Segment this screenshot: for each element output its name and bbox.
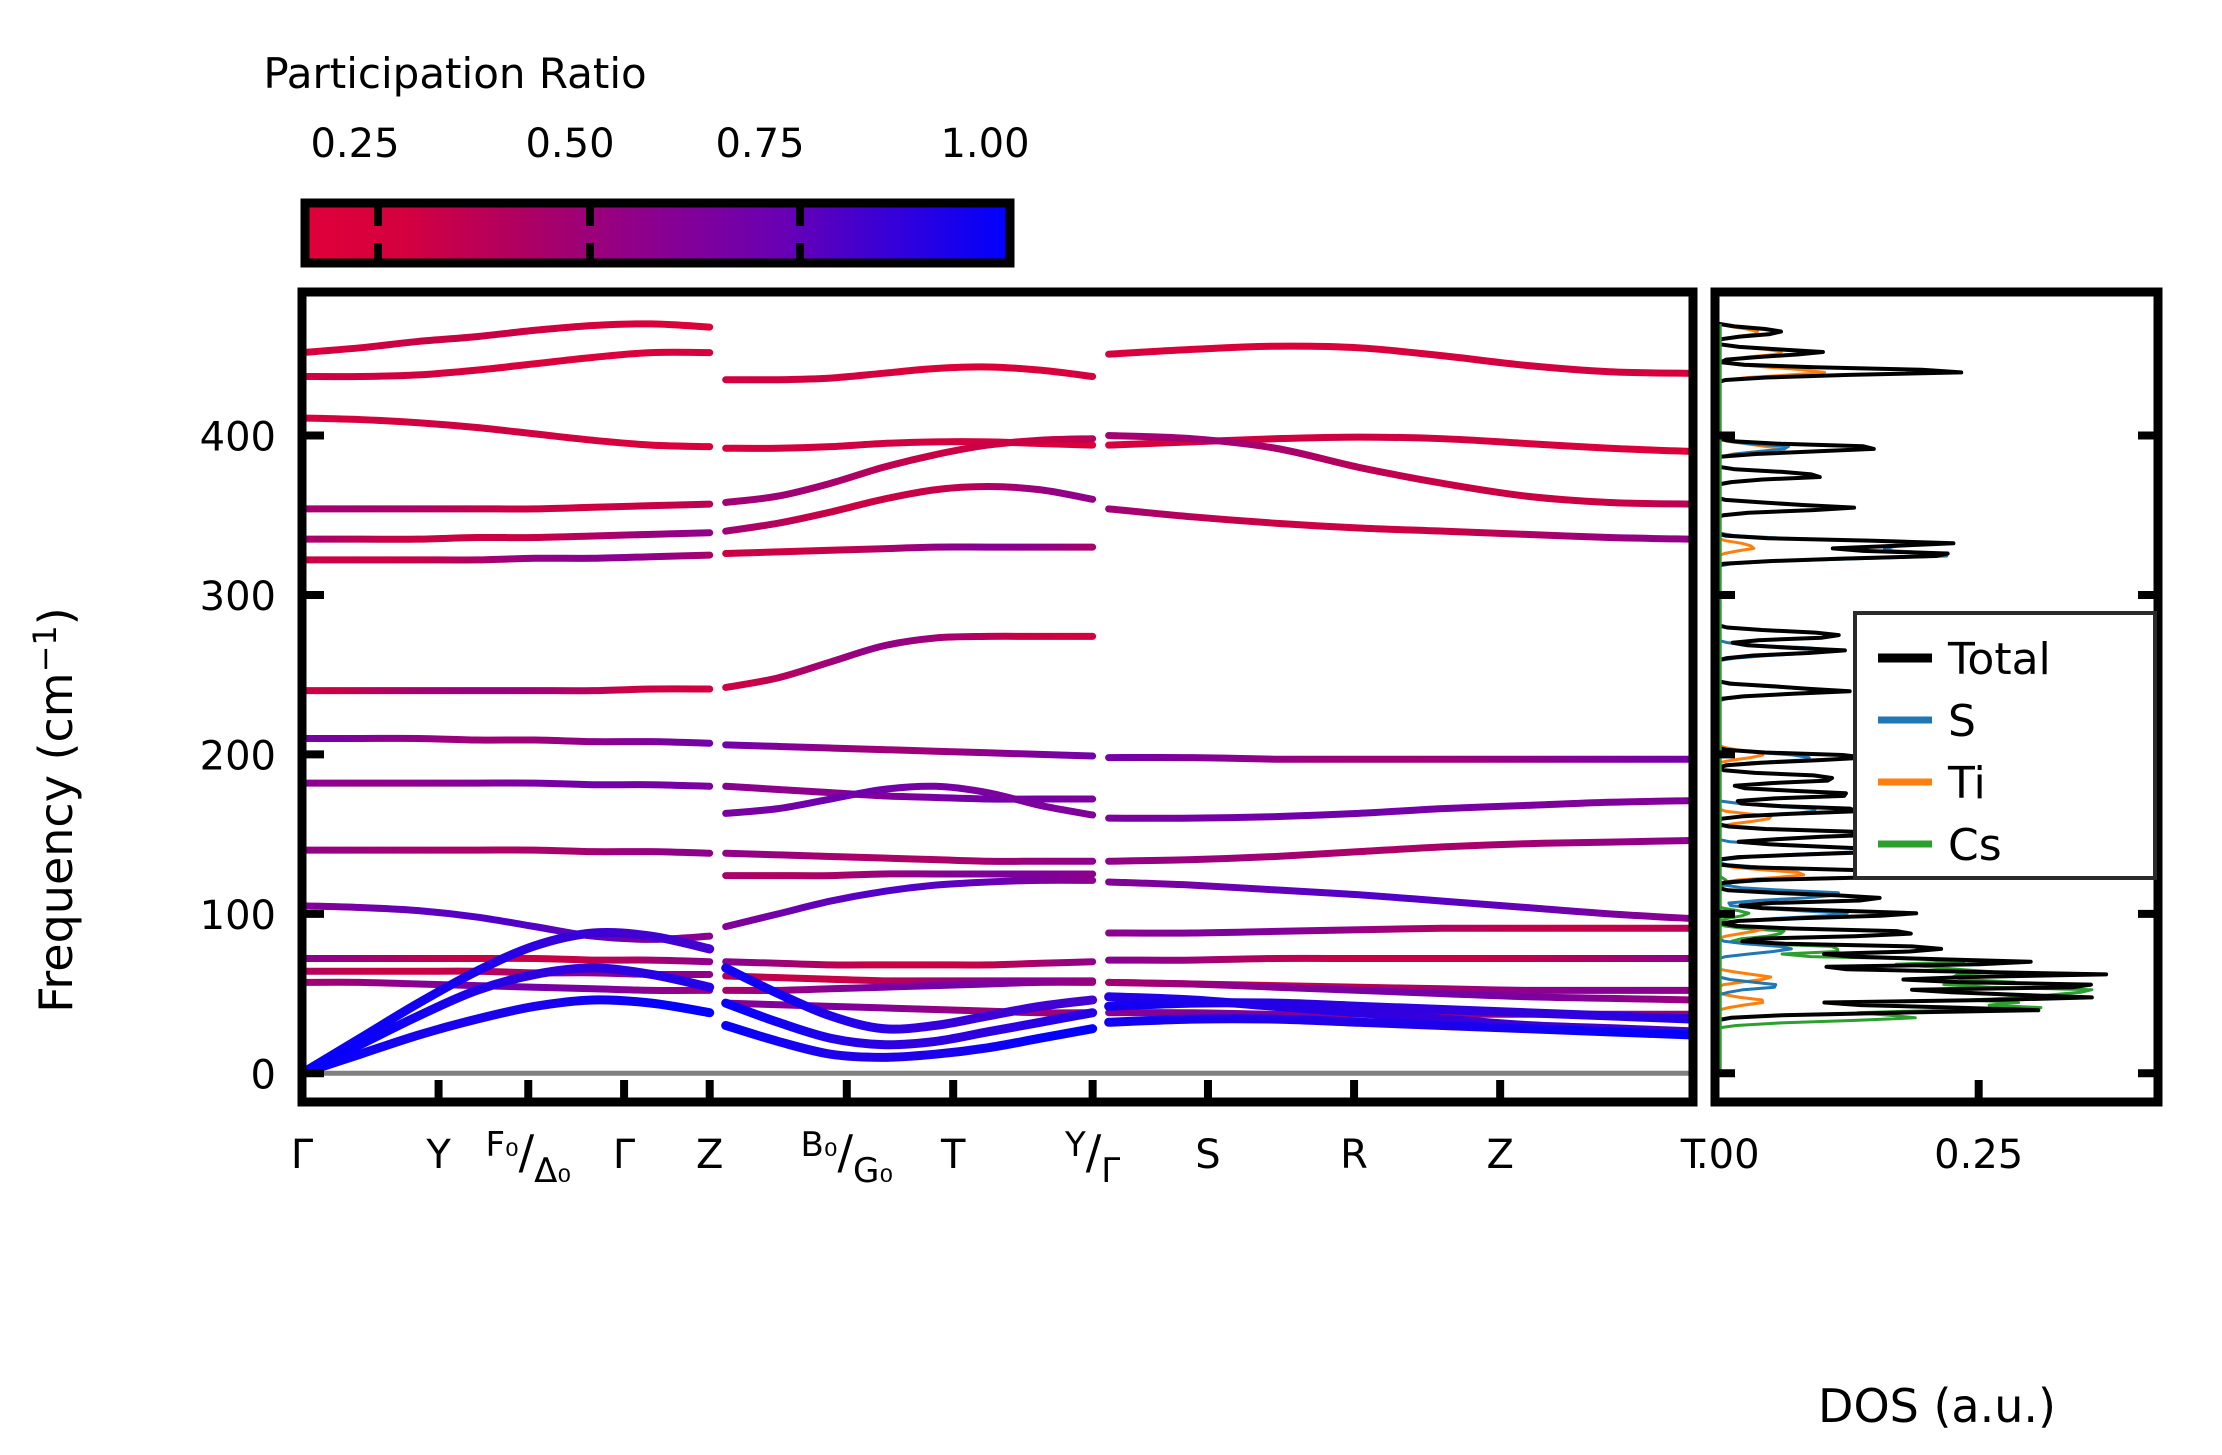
svg-text:F₀/Δ₀: F₀/Δ₀	[485, 1125, 571, 1191]
band-structure-svg[interactable]: Frequency (cm−1) 0100200300400 ΓYF₀/Δ₀ΓZ…	[0, 240, 1740, 1455]
svg-text:Z: Z	[1486, 1132, 1513, 1178]
svg-text:Γ: Γ	[291, 1132, 314, 1178]
svg-text:Z: Z	[696, 1132, 723, 1178]
dos-panel: 0.000.25 TotalSTiCs DOS (a.u.)	[1700, 240, 2222, 1455]
band-xtick-label-2: F₀/Δ₀	[485, 1125, 571, 1191]
dos-xtick-label-group: 0.000.25	[1700, 1132, 2023, 1178]
svg-text:B₀/G₀: B₀/G₀	[801, 1125, 893, 1191]
dos-xtick-label-1: 0.25	[1934, 1132, 2023, 1178]
legend-label-s[interactable]: S	[1948, 696, 1976, 747]
colorbar-tick-label-0: 0.25	[310, 121, 399, 167]
svg-text:Γ: Γ	[613, 1132, 636, 1178]
band-xtick-label-3: Γ	[613, 1132, 636, 1178]
band-xtick-label-7: Y/Γ	[1064, 1125, 1120, 1191]
band-ylabel-text: Frequency (cm	[29, 672, 83, 1012]
band-ytick-label-2: 200	[200, 733, 276, 779]
colorbar-tick-label-2: 0.75	[715, 121, 804, 167]
legend-label-total[interactable]: Total	[1947, 634, 2051, 685]
band-xtick-label-6: T	[940, 1132, 966, 1178]
band-xtick-label-1: Y	[425, 1132, 451, 1178]
band-xtick-label-10: Z	[1486, 1132, 1513, 1178]
colorbar-tick-label-3: 1.00	[940, 121, 1029, 167]
band-ytick-label-1: 100	[200, 893, 276, 939]
svg-text:Y: Y	[425, 1132, 451, 1178]
band-ytick-label-0: 0	[251, 1052, 276, 1098]
legend-label-cs[interactable]: Cs	[1948, 820, 2002, 871]
band-xtick-label-9: R	[1340, 1132, 1368, 1178]
band-ylabel: Frequency (cm−1)	[26, 607, 83, 1012]
band-structure-panel: Frequency (cm−1) 0100200300400 ΓYF₀/Δ₀ΓZ…	[0, 240, 1740, 1455]
band-xtick-label-8: S	[1195, 1132, 1220, 1178]
band-xtick-label-0: Γ	[291, 1132, 314, 1178]
colorbar-tick-label-1: 0.50	[525, 121, 614, 167]
colorbar-region: Participation Ratio 0.25 0.50 0.75 1.00	[0, 0, 1100, 280]
dos-svg[interactable]: 0.000.25 TotalSTiCs DOS (a.u.)	[1700, 240, 2222, 1455]
band-ytick-label-4: 400	[200, 415, 276, 461]
dos-xlabel: DOS (a.u.)	[1818, 1379, 2056, 1433]
band-xtick-label-4: Z	[696, 1132, 723, 1178]
svg-text:R: R	[1340, 1132, 1368, 1178]
svg-text:Y/Γ: Y/Γ	[1064, 1125, 1120, 1191]
svg-text:S: S	[1195, 1132, 1220, 1178]
band-xtick-label-5: B₀/G₀	[801, 1125, 893, 1191]
band-xtick-label-group: ΓYF₀/Δ₀ΓZB₀/G₀TY/ΓSRZT	[291, 1125, 1706, 1191]
legend-label-ti[interactable]: Ti	[1947, 758, 1986, 809]
figure-canvas: Participation Ratio 0.25 0.50 0.75 1.00 …	[0, 0, 2222, 1455]
svg-text:T: T	[940, 1132, 966, 1178]
colorbar-svg: Participation Ratio 0.25 0.50 0.75 1.00	[0, 0, 1100, 280]
dos-legend[interactable]: TotalSTiCs	[1855, 613, 2155, 878]
band-ytick-label-3: 300	[200, 574, 276, 620]
colorbar-title: Participation Ratio	[263, 49, 646, 98]
dos-xtick-label-0: 0.00	[1700, 1132, 1760, 1178]
